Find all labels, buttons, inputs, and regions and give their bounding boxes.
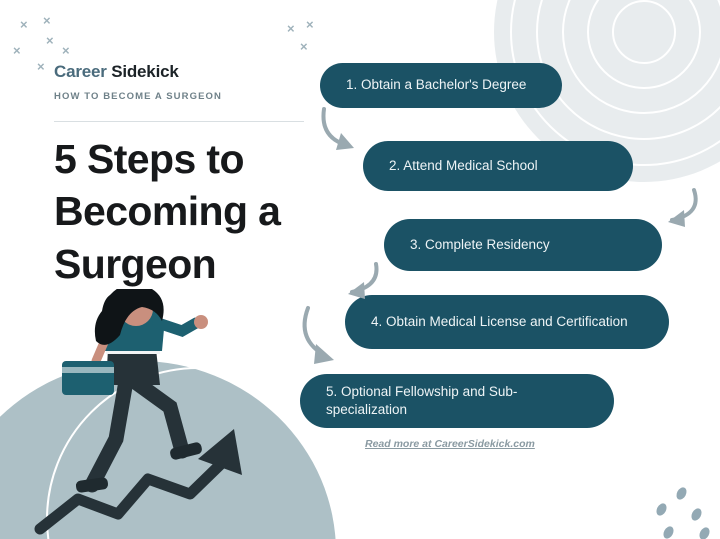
read-more-link[interactable]: Read more at CareerSidekick.com (365, 438, 535, 450)
step-item-1[interactable]: 1. Obtain a Bachelor's Degree (320, 63, 562, 108)
connector-arrow-1-icon (312, 105, 386, 157)
step-item-4[interactable]: 4. Obtain Medical License and Certificat… (345, 295, 669, 349)
connector-arrow-4-icon (288, 302, 354, 372)
step-item-2[interactable]: 2. Attend Medical School (363, 141, 633, 191)
step-item-5[interactable]: 5. Optional Fellowship and Sub-specializ… (300, 374, 614, 428)
step-label-5: 5. Optional Fellowship and Sub-specializ… (326, 383, 588, 419)
step-label-3: 3. Complete Residency (410, 236, 550, 254)
infographic-canvas: ××××××××× Career Sidekick HOW TO BECOM (0, 0, 720, 539)
step-item-3[interactable]: 3. Complete Residency (384, 219, 662, 271)
step-label-2: 2. Attend Medical School (389, 157, 538, 175)
step-label-4: 4. Obtain Medical License and Certificat… (371, 313, 628, 331)
step-label-1: 1. Obtain a Bachelor's Degree (346, 76, 526, 94)
connector-arrow-3-icon (322, 258, 390, 304)
connector-arrow-2-icon (648, 184, 706, 234)
